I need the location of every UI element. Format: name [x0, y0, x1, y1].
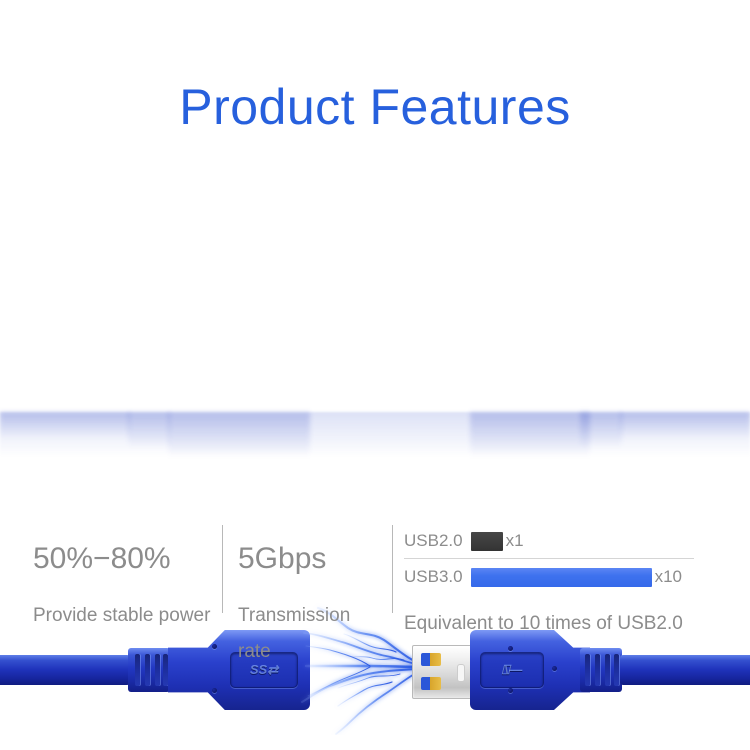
- feature-caption: Provide stable power: [33, 598, 213, 634]
- chart-row-usb2: USB2.0 x1: [404, 526, 704, 556]
- feature-headline: 50%−80%: [33, 544, 213, 574]
- chart-bar-value-usb3: x10: [655, 567, 682, 587]
- feature-column-power: 50%−80% Provide stable power: [33, 520, 213, 634]
- column-divider: [222, 525, 223, 613]
- chart-bar-usb2: [471, 532, 503, 551]
- column-divider: [392, 525, 393, 613]
- feature-column-speed: 5Gbps Transmission rate: [238, 520, 386, 670]
- page-title: Product Features: [0, 78, 750, 136]
- chart-separator: [404, 558, 694, 559]
- usb-speed-comparison-chart: USB2.0 x1 USB3.0 x10: [404, 526, 704, 592]
- feature-row: 50%−80% Provide stable power 5Gbps Trans…: [0, 520, 750, 720]
- feature-caption: Equivalent to 10 times of USB2.0: [404, 606, 734, 642]
- chart-row-usb3: USB3.0 x10: [404, 562, 704, 592]
- chart-bar-value-usb2: x1: [506, 531, 524, 551]
- product-feature-banner: Product Features SS⇄: [0, 0, 750, 750]
- chart-bar-usb3: [471, 568, 652, 587]
- cable-reflection: [0, 412, 750, 474]
- chart-row-label: USB2.0: [404, 531, 463, 551]
- feature-column-comparison: USB2.0 x1 USB3.0 x10 Equivalent to 10 ti…: [404, 520, 734, 642]
- feature-headline: 5Gbps: [238, 544, 386, 574]
- chart-row-label: USB3.0: [404, 567, 463, 587]
- feature-caption: Transmission rate: [238, 598, 386, 670]
